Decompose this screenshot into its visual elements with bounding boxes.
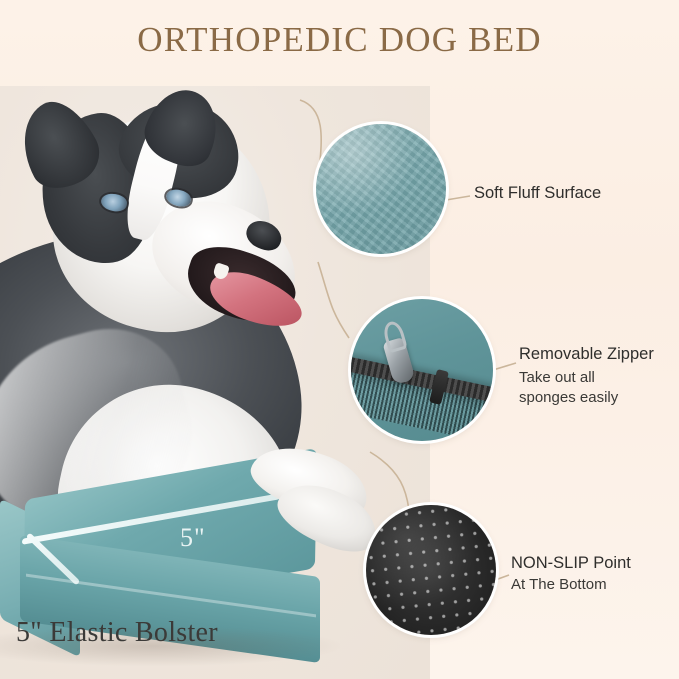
feature-3-title: NON-SLIP Point <box>511 554 631 573</box>
nonslip-bottom-swatch-icon <box>366 505 496 635</box>
nonslip-dots-icon <box>366 505 496 635</box>
feature-1-title: Soft Fluff Surface <box>474 184 601 203</box>
page-title: ORTHOPEDIC DOG BED <box>0 20 679 60</box>
product-poster: ORTHOPEDIC DOG BED 5" <box>0 0 679 679</box>
feature-2-text: Removable Zipper Take out all sponges ea… <box>519 345 654 409</box>
feature-2-subtitle: Take out all sponges easily <box>519 368 654 409</box>
bolster-caption: 5" Elastic Bolster <box>16 617 218 649</box>
fluff-fabric-swatch-icon <box>316 124 446 254</box>
feature-1-text: Soft Fluff Surface <box>474 184 601 203</box>
feature-3-subtitle: At The Bottom <box>511 575 631 595</box>
feature-2-title: Removable Zipper <box>519 345 654 364</box>
bed-height-label: 5" <box>180 523 206 553</box>
feature-3-text: NON-SLIP Point At The Bottom <box>511 554 631 595</box>
zipper-swatch-icon <box>351 299 493 441</box>
